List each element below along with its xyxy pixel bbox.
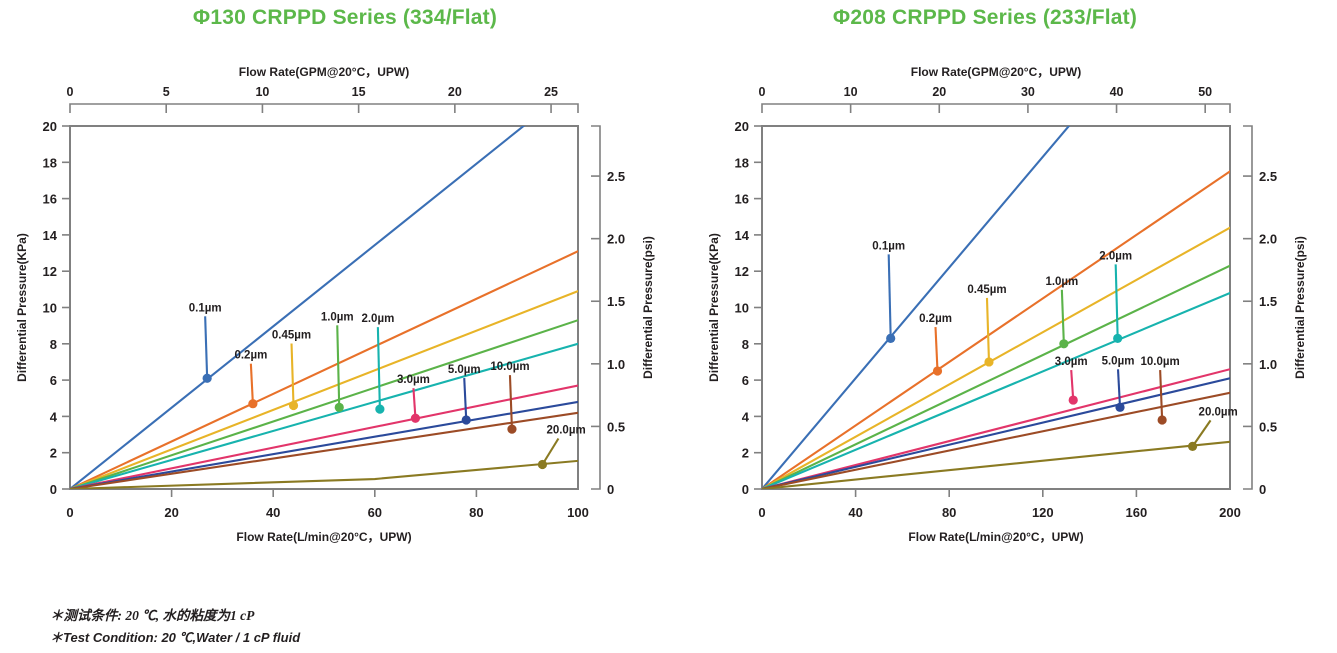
top-axis-line: [762, 104, 1230, 113]
top-axis-tick-label: 30: [1021, 85, 1035, 99]
series-callout-label: 20.0µm: [546, 424, 585, 436]
chart-panel-phi130: 0510152025Flow Rate(GPM@20°C，UPW)0204060…: [0, 60, 660, 560]
series-line: [70, 402, 578, 489]
series-line: [70, 386, 578, 489]
callout-marker: [203, 374, 212, 383]
chart-panel-phi208: 01020304050Flow Rate(GPM@20°C，UPW)040801…: [700, 60, 1337, 560]
right-axis-tick-label: 2.5: [1259, 169, 1277, 184]
callout-marker: [1113, 334, 1122, 343]
x-axis-tick-label: 60: [368, 505, 382, 520]
right-axis-tick-label: 0.5: [607, 419, 625, 434]
series-callout-label: 20.0µm: [1199, 406, 1238, 418]
callout-marker: [886, 334, 895, 343]
callout-marker: [1059, 339, 1068, 348]
y-axis-tick-label: 14: [43, 228, 58, 243]
right-axis-line: [591, 126, 600, 489]
top-axis-tick-label: 5: [163, 85, 170, 99]
callout-leader: [464, 378, 466, 420]
y-axis-title: Differential Pressure(KPa): [707, 233, 721, 382]
x-axis-tick-label: 160: [1126, 505, 1148, 520]
y-axis-tick-label: 8: [742, 337, 749, 352]
y-axis-tick-label: 2: [742, 446, 749, 461]
top-axis-tick-label: 20: [932, 85, 946, 99]
callout-marker: [375, 405, 384, 414]
top-axis-tick-label: 50: [1198, 85, 1212, 99]
y-axis-title: Differential Pressure(KPa): [15, 233, 29, 382]
callout-marker: [289, 401, 298, 410]
callout-marker: [248, 399, 257, 408]
y-axis-tick-label: 0: [50, 482, 57, 497]
series-callout-label: 3.0µm: [1055, 356, 1088, 368]
x-axis-tick-label: 20: [164, 505, 178, 520]
right-axis-line: [1243, 126, 1252, 489]
series-callout-label: 10.0µm: [1141, 356, 1180, 368]
series-callout-label: 1.0µm: [1045, 276, 1078, 288]
series-callout-label: 0.45µm: [272, 330, 311, 342]
test-condition-note-cn: ＊测试条件: 20 ℃, 水的粘度为1 cP: [50, 604, 254, 624]
right-axis-tick-label: 2.0: [1259, 232, 1277, 247]
series-line: [70, 82, 578, 489]
series-line: [70, 320, 578, 489]
callout-marker: [507, 425, 516, 434]
x-axis-tick-label: 80: [942, 505, 956, 520]
y-axis-tick-label: 4: [50, 409, 58, 424]
y-axis-tick-label: 0: [742, 482, 749, 497]
right-axis-tick-label: 2.5: [607, 169, 625, 184]
y-axis-tick-label: 20: [735, 119, 749, 134]
series-line: [70, 413, 578, 489]
x-axis-title: Flow Rate(L/min@20°C，UPW): [908, 530, 1083, 544]
y-axis-tick-label: 10: [43, 301, 57, 316]
series-callout-label: 1.0µm: [321, 311, 354, 323]
top-axis-tick-label: 0: [759, 85, 766, 99]
x-axis-tick-label: 80: [469, 505, 483, 520]
x-axis-tick-label: 0: [758, 505, 765, 520]
y-axis-tick-label: 6: [742, 373, 749, 388]
series-line: [762, 293, 1230, 489]
chart-title-right: Φ208 CRPPD Series (233/Flat): [640, 6, 1330, 30]
right-axis-tick-label: 0: [607, 482, 614, 497]
callout-leader: [205, 316, 207, 378]
right-axis-tick-label: 2.0: [607, 232, 625, 247]
series-callout-label: 0.1µm: [189, 302, 222, 314]
series-callout-label: 5.0µm: [448, 364, 481, 376]
top-axis-tick-label: 0: [67, 85, 74, 99]
y-axis-tick-label: 4: [742, 409, 750, 424]
y-axis-tick-label: 16: [735, 192, 749, 207]
top-axis-tick-label: 25: [544, 85, 558, 99]
callout-leader: [1116, 264, 1118, 338]
y-axis-tick-label: 18: [735, 155, 749, 170]
callout-leader: [1118, 369, 1120, 407]
x-axis-tick-label: 40: [266, 505, 280, 520]
y-axis-tick-label: 6: [50, 373, 57, 388]
series-callout-label: 0.2µm: [234, 350, 267, 362]
series-callout-label: 3.0µm: [397, 374, 430, 386]
x-axis-tick-label: 120: [1032, 505, 1054, 520]
top-axis-tick-label: 40: [1110, 85, 1124, 99]
top-axis-line: [70, 104, 578, 113]
series-callout-label: 10.0µm: [490, 361, 529, 373]
right-axis-tick-label: 1.0: [607, 357, 625, 372]
callout-leader: [889, 254, 891, 338]
series-callout-label: 5.0µm: [1102, 355, 1135, 367]
callout-leader: [292, 344, 294, 406]
callout-marker: [1158, 415, 1167, 424]
right-axis-tick-label: 0.5: [1259, 419, 1277, 434]
top-axis-title: Flow Rate(GPM@20°C，UPW): [911, 65, 1082, 79]
callout-leader: [251, 364, 253, 404]
series-group: [70, 82, 578, 489]
right-axis-tick-label: 1.5: [1259, 294, 1277, 309]
callout-leader: [936, 327, 938, 371]
y-axis-tick-label: 8: [50, 337, 57, 352]
callout-marker: [933, 366, 942, 375]
top-axis-tick-label: 20: [448, 85, 462, 99]
chart-title-left: Φ130 CRPPD Series (334/Flat): [0, 6, 690, 30]
series-callout-label: 0.2µm: [919, 313, 952, 325]
top-axis-tick-label: 15: [352, 85, 366, 99]
series-line: [762, 378, 1230, 489]
x-axis-tick-label: 100: [567, 505, 589, 520]
y-axis-tick-label: 14: [735, 228, 750, 243]
top-axis-tick-label: 10: [844, 85, 858, 99]
callout-leader: [1193, 420, 1211, 446]
callout-leader: [337, 325, 339, 407]
callout-leader: [510, 375, 512, 429]
callout-marker: [1069, 395, 1078, 404]
series-callout-label: 0.45µm: [967, 284, 1006, 296]
x-axis-title: Flow Rate(L/min@20°C，UPW): [236, 530, 411, 544]
y-axis-tick-label: 2: [50, 446, 57, 461]
right-axis-tick-label: 1.5: [607, 294, 625, 309]
callout-leader: [987, 298, 989, 362]
x-axis-tick-label: 200: [1219, 505, 1241, 520]
callout-marker: [462, 415, 471, 424]
callout-leader: [1160, 370, 1162, 420]
plot-frame: [70, 126, 578, 489]
callout-marker: [984, 357, 993, 366]
test-condition-note-en: ＊Test Condition: 20 ℃,Water / 1 cP fluid: [50, 627, 300, 646]
top-axis-tick-label: 10: [255, 85, 269, 99]
chart-svg-phi130: 0510152025Flow Rate(GPM@20°C，UPW)0204060…: [0, 60, 660, 560]
y-axis-tick-label: 20: [43, 119, 57, 134]
right-axis-title: Differential Pressure(psi): [641, 236, 655, 379]
callout-marker: [335, 403, 344, 412]
x-axis-tick-label: 40: [848, 505, 862, 520]
callout-leader: [378, 327, 380, 409]
top-axis-title: Flow Rate(GPM@20°C，UPW): [239, 65, 410, 79]
y-axis-tick-label: 16: [43, 192, 57, 207]
y-axis-tick-label: 12: [43, 264, 57, 279]
right-axis-tick-label: 0: [1259, 482, 1266, 497]
callout-marker: [1188, 442, 1197, 451]
pressure-drop-figure: Φ130 CRPPD Series (334/Flat) Φ208 CRPPD …: [0, 0, 1337, 653]
series-callout-label: 0.1µm: [872, 240, 905, 252]
chart-svg-phi208: 01020304050Flow Rate(GPM@20°C，UPW)040801…: [700, 60, 1337, 560]
y-axis-tick-label: 18: [43, 155, 57, 170]
callout-marker: [411, 414, 420, 423]
right-axis-title: Differential Pressure(psi): [1293, 236, 1307, 379]
y-axis-tick-label: 10: [735, 301, 749, 316]
y-axis-tick-label: 12: [735, 264, 749, 279]
callout-marker: [1115, 403, 1124, 412]
x-axis-tick-label: 0: [66, 505, 73, 520]
right-axis-tick-label: 1.0: [1259, 357, 1277, 372]
series-callout-label: 2.0µm: [361, 313, 394, 325]
callout-marker: [538, 460, 547, 469]
callout-leader: [1062, 290, 1064, 344]
series-callout-label: 2.0µm: [1099, 250, 1132, 262]
